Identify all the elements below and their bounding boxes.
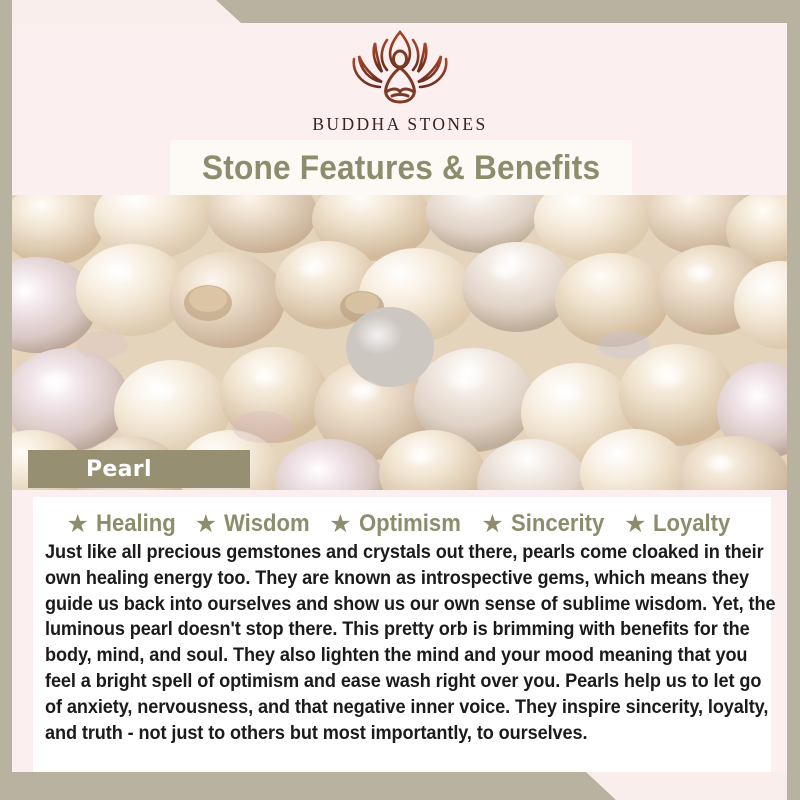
benefit-item: ★ Loyalty	[624, 510, 737, 538]
lotus-meditation-icon	[342, 26, 458, 110]
title-banner: Stone Features & Benefits	[170, 140, 632, 196]
pearls-photo-art	[12, 195, 787, 490]
benefit-item: ★ Optimism	[329, 510, 469, 538]
stone-name-bar: Pearl	[28, 450, 250, 488]
benefit-label: Wisdom	[224, 510, 310, 538]
benefit-label: Healing	[96, 510, 176, 538]
poster-root: BUDDHA STONES Stone Features & Benefits	[0, 0, 800, 800]
benefit-item: ★ Healing	[66, 510, 182, 538]
star-icon: ★	[329, 512, 351, 537]
description-line: body, mind, and soul. They also lighten …	[45, 643, 714, 669]
frame-top-band	[0, 0, 800, 23]
description-line: feel a bright spell of optimism and ease…	[45, 669, 714, 695]
benefit-label: Optimism	[359, 510, 461, 538]
star-icon: ★	[624, 512, 646, 537]
description-line: of anxiety, nervousness, and that negati…	[45, 695, 714, 721]
benefit-label: Sincerity	[511, 510, 604, 538]
pearls-photo	[12, 195, 787, 490]
benefit-label: Loyalty	[653, 510, 730, 538]
description-line: Just like all precious gemstones and cry…	[45, 540, 714, 566]
brand-logo: BUDDHA STONES	[0, 26, 800, 141]
benefit-item: ★ Wisdom	[195, 510, 318, 538]
description-line: guide us back into ourselves and show us…	[45, 592, 714, 618]
frame-bottom-band	[0, 772, 800, 800]
description-line: luminous pearl doesn't stop there. This …	[45, 617, 714, 643]
description-paragraph: Just like all precious gemstones and cry…	[45, 540, 761, 746]
stone-name-label: Pearl	[86, 457, 152, 482]
page-title: Stone Features & Benefits	[202, 149, 600, 188]
brand-name: BUDDHA STONES	[312, 114, 487, 135]
content-card: ★ Healing ★ Wisdom ★ Optimism ★ Sincerit…	[33, 497, 771, 772]
description-line: and truth - not just to others but most …	[45, 721, 714, 747]
benefits-row: ★ Healing ★ Wisdom ★ Optimism ★ Sincerit…	[33, 497, 771, 538]
star-icon: ★	[481, 512, 503, 537]
star-icon: ★	[66, 512, 88, 537]
description-line: own healing energy too. They are known a…	[45, 566, 714, 592]
benefit-item: ★ Sincerity	[481, 510, 612, 538]
star-icon: ★	[195, 512, 217, 537]
